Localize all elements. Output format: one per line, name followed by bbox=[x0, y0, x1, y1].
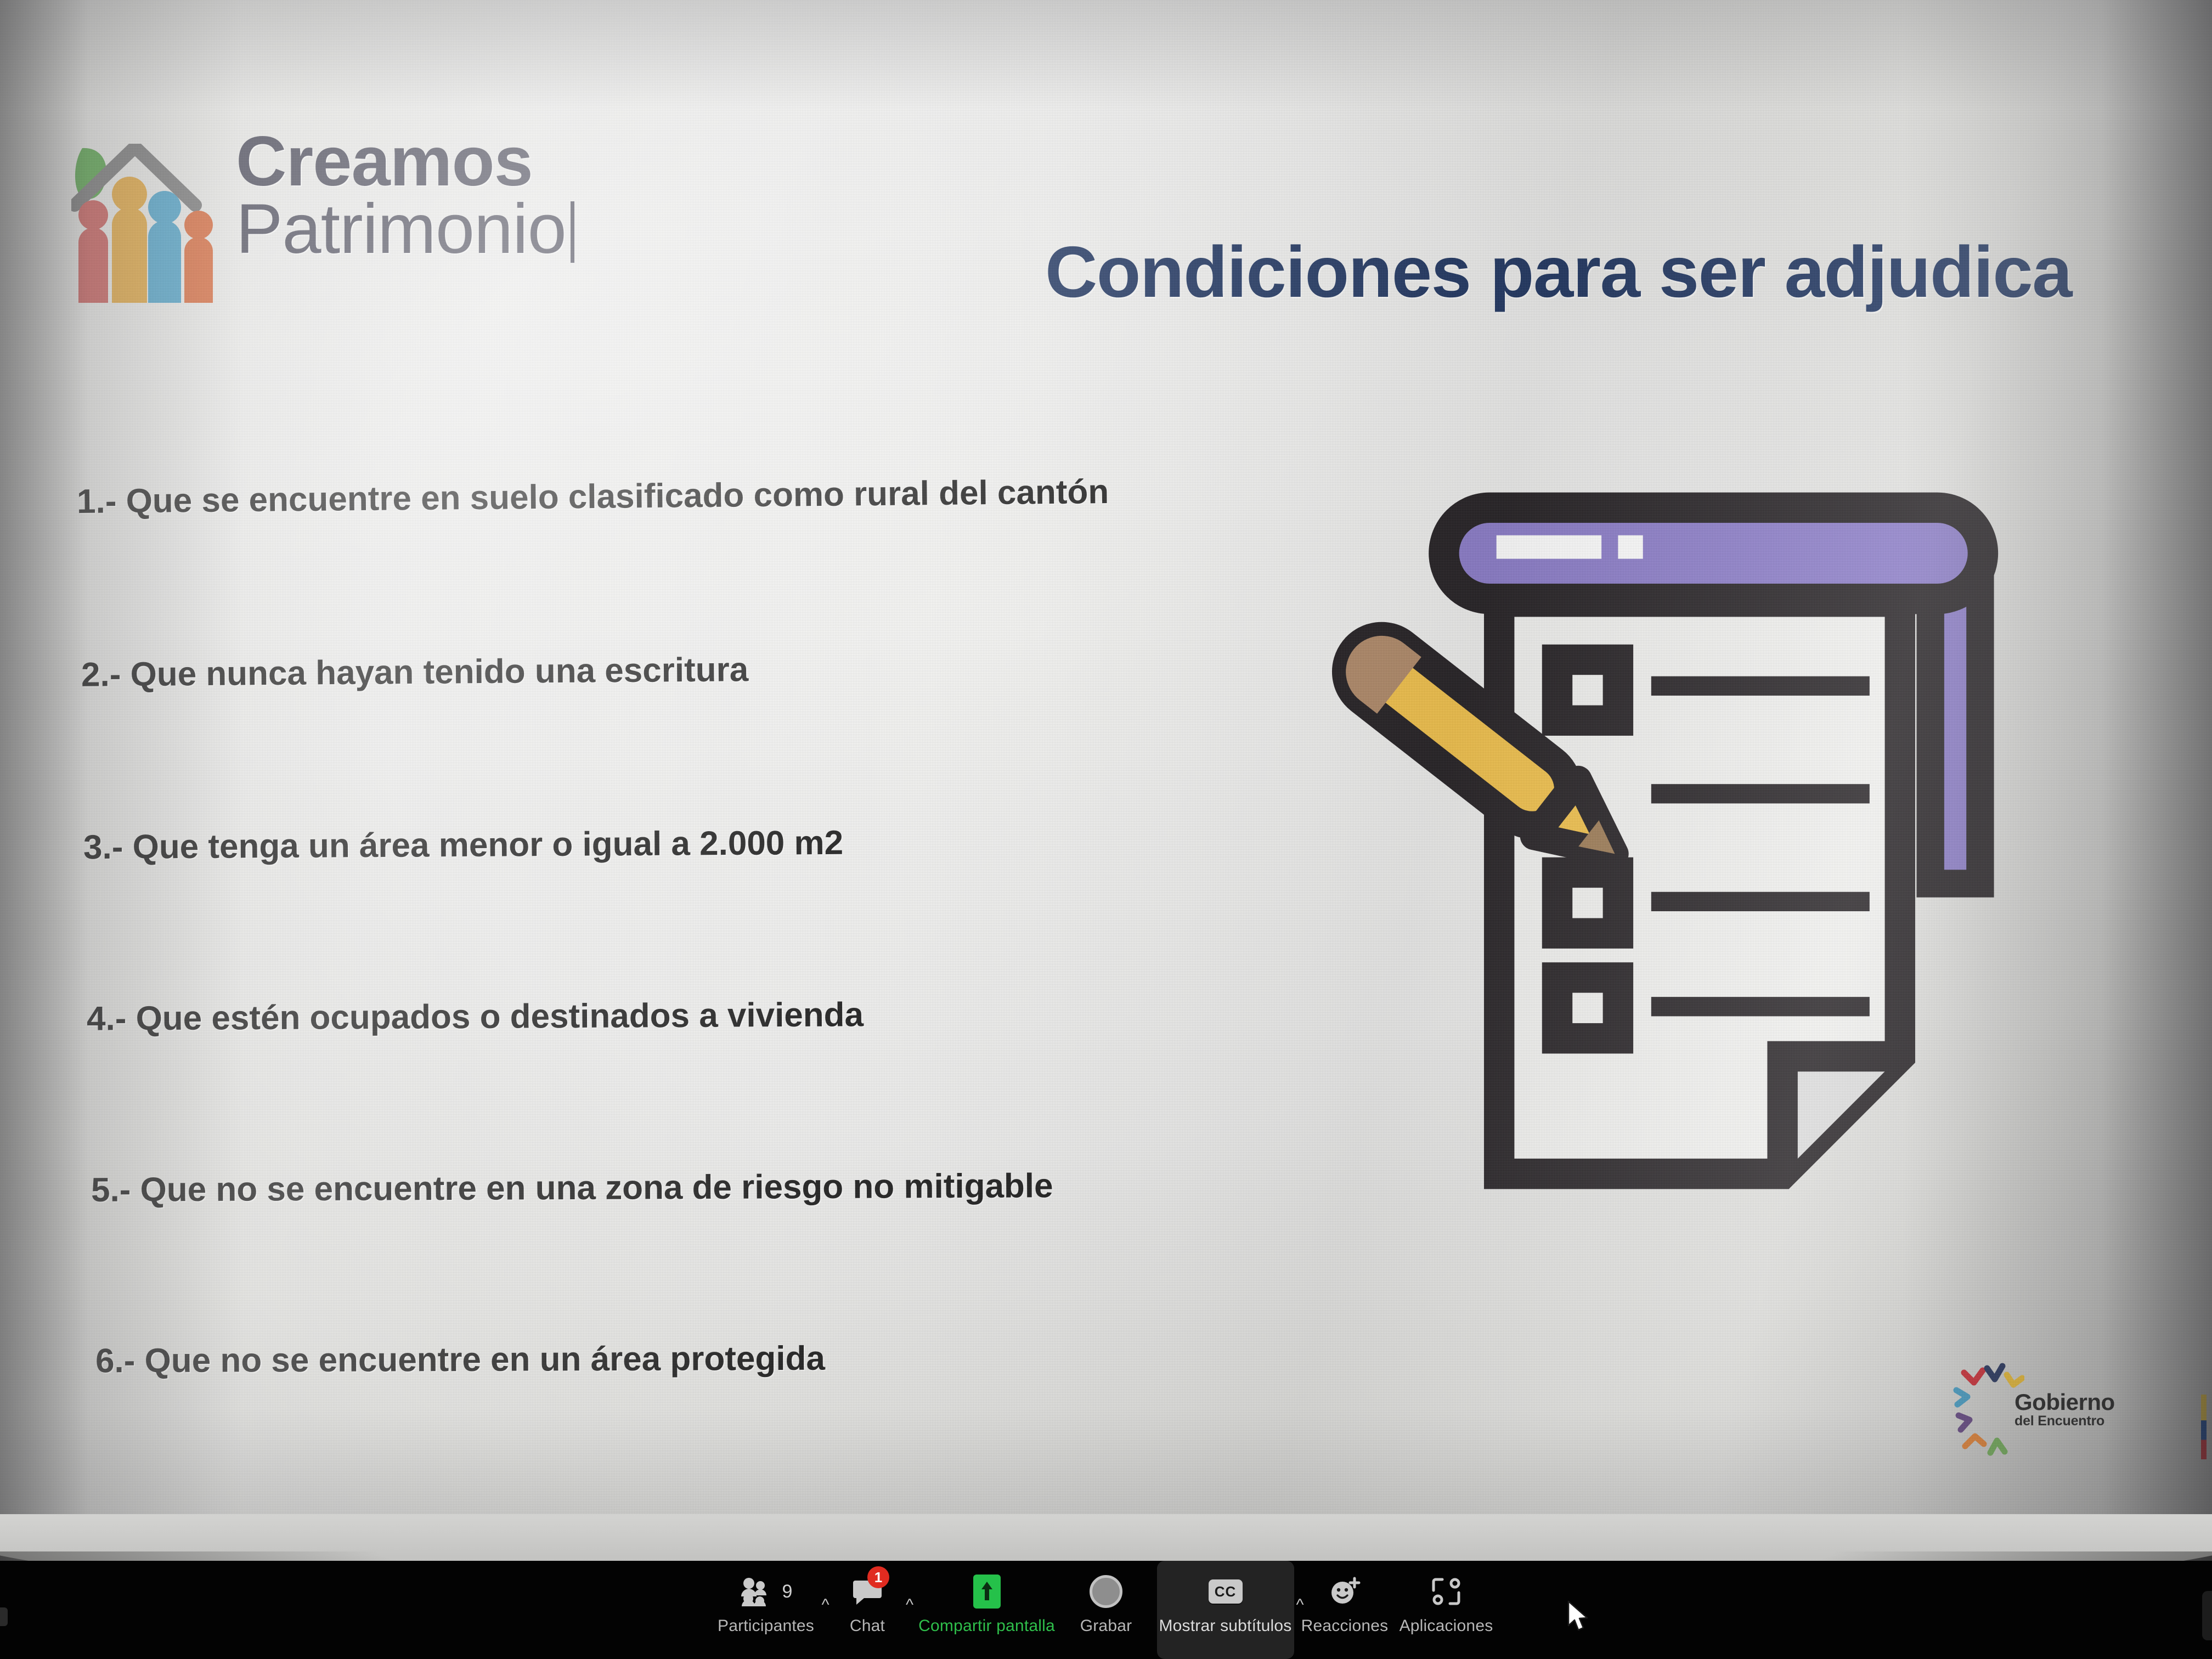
participants-icon: 9 ^ bbox=[740, 1574, 793, 1609]
toolbar-label-share-screen: Compartir pantalla bbox=[918, 1617, 1055, 1635]
share-screen-up-arrow-icon bbox=[973, 1574, 1001, 1609]
zoom-meeting-toolbar: 9 ^ Participantes 1 ^ Chat bbox=[0, 1561, 2212, 1659]
monitor-photo: Creamos Patrimonio Condiciones para ser … bbox=[0, 0, 2212, 1659]
toolbar-button-participants[interactable]: 9 ^ Participantes bbox=[715, 1561, 817, 1659]
smiley-plus-icon bbox=[1328, 1574, 1361, 1609]
toolbar-label-reactions: Reacciones bbox=[1301, 1617, 1389, 1635]
chat-bubble-icon: 1 ^ bbox=[852, 1574, 883, 1609]
gobierno-del-encuentro-logo: Gobierno del Encuentro bbox=[1953, 1361, 2211, 1465]
participants-count: 9 bbox=[782, 1581, 793, 1602]
apps-bracket-icon bbox=[1430, 1574, 1462, 1609]
condition-item-1: 1.- Que se encuentre en suelo clasificad… bbox=[77, 472, 1109, 521]
record-circle-icon bbox=[1090, 1574, 1122, 1609]
toolbar-label-participants: Participantes bbox=[718, 1617, 814, 1635]
shared-screen-slide: Creamos Patrimonio Condiciones para ser … bbox=[0, 0, 2212, 1565]
chevron-up-icon-chat[interactable]: ^ bbox=[906, 1597, 913, 1613]
cc-key-glyph: CC bbox=[1209, 1579, 1243, 1604]
toolbar-label-chat: Chat bbox=[850, 1617, 885, 1635]
ecuador-flag-bar-icon bbox=[2201, 1395, 2207, 1459]
gobierno-arrows-icon bbox=[1953, 1361, 2024, 1457]
condition-item-2: 2.- Que nunca hayan tenido una escritura bbox=[81, 650, 749, 695]
condition-item-5: 5.- Que no se encuentre en una zona de r… bbox=[91, 1166, 1053, 1210]
closed-caption-cc-icon: CC ^ bbox=[1209, 1574, 1243, 1609]
condition-item-3: 3.- Que tenga un área menor o igual a 2.… bbox=[83, 823, 844, 867]
condition-item-6: 6.- Que no se encuentre en un área prote… bbox=[95, 1339, 825, 1381]
toolbar-button-reactions[interactable]: Reacciones bbox=[1294, 1561, 1396, 1659]
toolbar-right-edge-artifact bbox=[2202, 1591, 2212, 1640]
gov-logo-line-2: del Encuentro bbox=[2015, 1413, 2115, 1429]
clipboard-checklist-pencil-icon bbox=[1306, 483, 2024, 1201]
toolbar-left-edge-artifact bbox=[0, 1607, 8, 1626]
toolbar-label-captions: Mostrar subtítulos bbox=[1159, 1617, 1291, 1635]
gov-logo-line-1: Gobierno bbox=[2015, 1389, 2115, 1415]
condition-item-4: 4.- Que estén ocupados o destinados a vi… bbox=[87, 995, 864, 1038]
toolbar-button-apps[interactable]: Aplicaciones bbox=[1396, 1561, 1497, 1659]
toolbar-button-captions[interactable]: CC ^ Mostrar subtítulos bbox=[1157, 1561, 1294, 1659]
toolbar-label-apps: Aplicaciones bbox=[1400, 1617, 1493, 1635]
toolbar-button-share-screen[interactable]: Compartir pantalla bbox=[918, 1561, 1056, 1659]
toolbar-button-chat[interactable]: 1 ^ Chat bbox=[817, 1561, 918, 1659]
chat-unread-badge: 1 bbox=[867, 1566, 889, 1588]
toolbar-label-record: Grabar bbox=[1080, 1617, 1132, 1635]
toolbar-button-record[interactable]: Grabar bbox=[1056, 1561, 1157, 1659]
